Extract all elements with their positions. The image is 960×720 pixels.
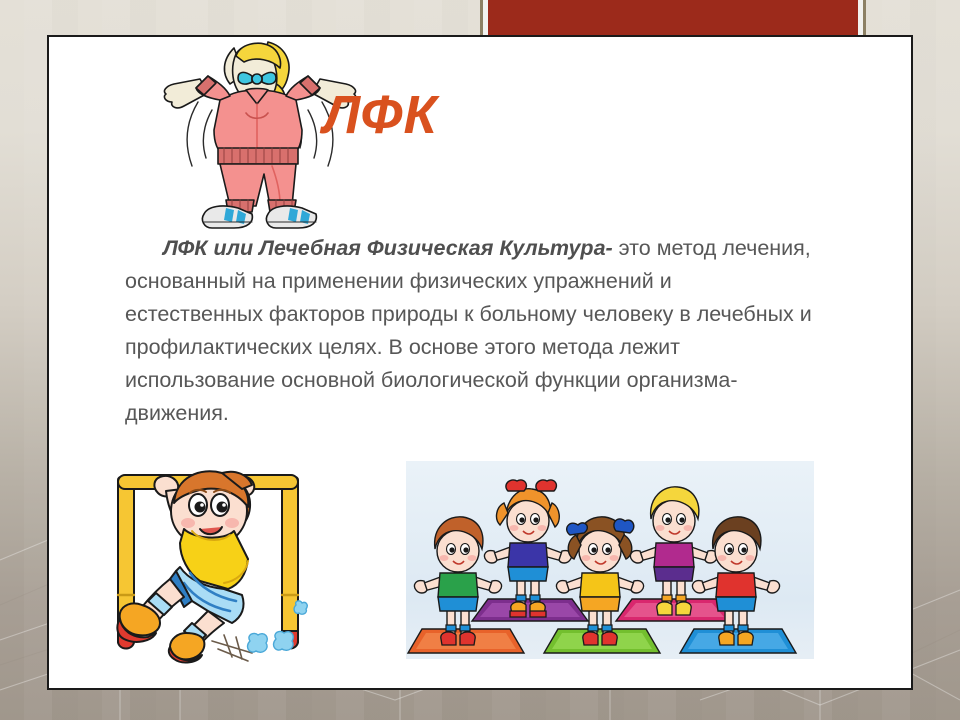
slide-body-text: ЛФК или Лечебная Физическая Культура- эт… — [125, 232, 815, 430]
body-rest-text: это метод лечения, основанный на примене… — [125, 236, 812, 425]
slide-title: ЛФК — [323, 88, 438, 142]
slide-canvas-background: ЛФК ЛФК или Лечебная Физическая Культура… — [0, 0, 960, 720]
body-lead-phrase: ЛФК или Лечебная Физическая Культура- — [163, 236, 613, 260]
children-exercising-on-mats-illustration — [406, 461, 814, 659]
boy-on-horizontal-bar-illustration — [96, 455, 328, 673]
